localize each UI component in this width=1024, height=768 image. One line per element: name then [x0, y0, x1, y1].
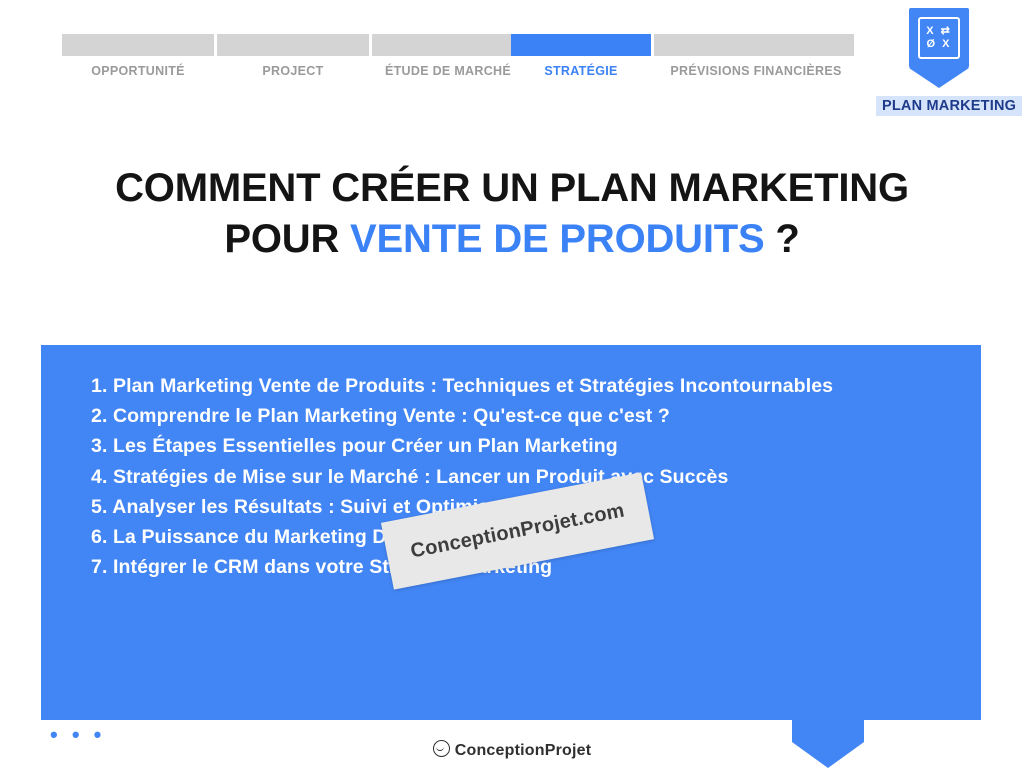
breadcrumb-arrow-5[interactable]: [654, 34, 854, 56]
down-arrow-shaft: [792, 720, 864, 742]
process-breadcrumb: OPPORTUNITÉ PROJECT ÉTUDE DE MARCHÉ STRA…: [62, 34, 862, 94]
page-title-suffix: ?: [764, 217, 799, 261]
marketing-plan-icon-glyphs: X ⇄ Ø X: [918, 17, 960, 59]
breadcrumb-arrow-row: [62, 34, 862, 58]
breadcrumb-label-etude-de-marche: ÉTUDE DE MARCHÉ: [365, 64, 531, 78]
list-item[interactable]: 3. Les Étapes Essentielles pour Créer un…: [91, 431, 959, 461]
page-title-line-2: POUR VENTE DE PRODUITS ?: [0, 214, 1024, 265]
breadcrumb-label-project: PROJECT: [217, 64, 369, 78]
page-title-highlight: VENTE DE PRODUITS: [350, 217, 764, 261]
smile-logo-icon: [433, 740, 450, 757]
breadcrumb-arrow-2[interactable]: [217, 34, 369, 56]
breadcrumb-arrow-4[interactable]: [511, 34, 651, 56]
breadcrumb-label-strategie: STRATÉGIE: [511, 64, 651, 78]
plan-marketing-badge: X ⇄ Ø X PLAN MARKETING: [876, 8, 1002, 116]
breadcrumb-arrow-3[interactable]: [372, 34, 524, 56]
list-item[interactable]: 1. Plan Marketing Vente de Produits : Te…: [91, 371, 959, 401]
list-item[interactable]: 4. Stratégies de Mise sur le Marché : La…: [91, 462, 959, 492]
plan-marketing-badge-label: PLAN MARKETING: [876, 96, 1022, 116]
page-title: COMMENT CRÉER UN PLAN MARKETING POUR VEN…: [0, 163, 1024, 265]
marketing-plan-icon: X ⇄ Ø X: [909, 8, 969, 68]
footer-logo-text: ConceptionProjet: [455, 742, 592, 759]
list-item[interactable]: 2. Comprendre le Plan Marketing Vente : …: [91, 401, 959, 431]
breadcrumb-label-opportunite: OPPORTUNITÉ: [62, 64, 214, 78]
breadcrumb-arrow-1[interactable]: [62, 34, 214, 56]
page-title-line-1: COMMENT CRÉER UN PLAN MARKETING: [0, 163, 1024, 214]
footer-logo: ConceptionProjet: [0, 740, 1024, 760]
breadcrumb-label-previsions-financieres: PRÉVISIONS FINANCIÈRES: [650, 64, 862, 78]
page-title-prefix: POUR: [224, 217, 350, 261]
